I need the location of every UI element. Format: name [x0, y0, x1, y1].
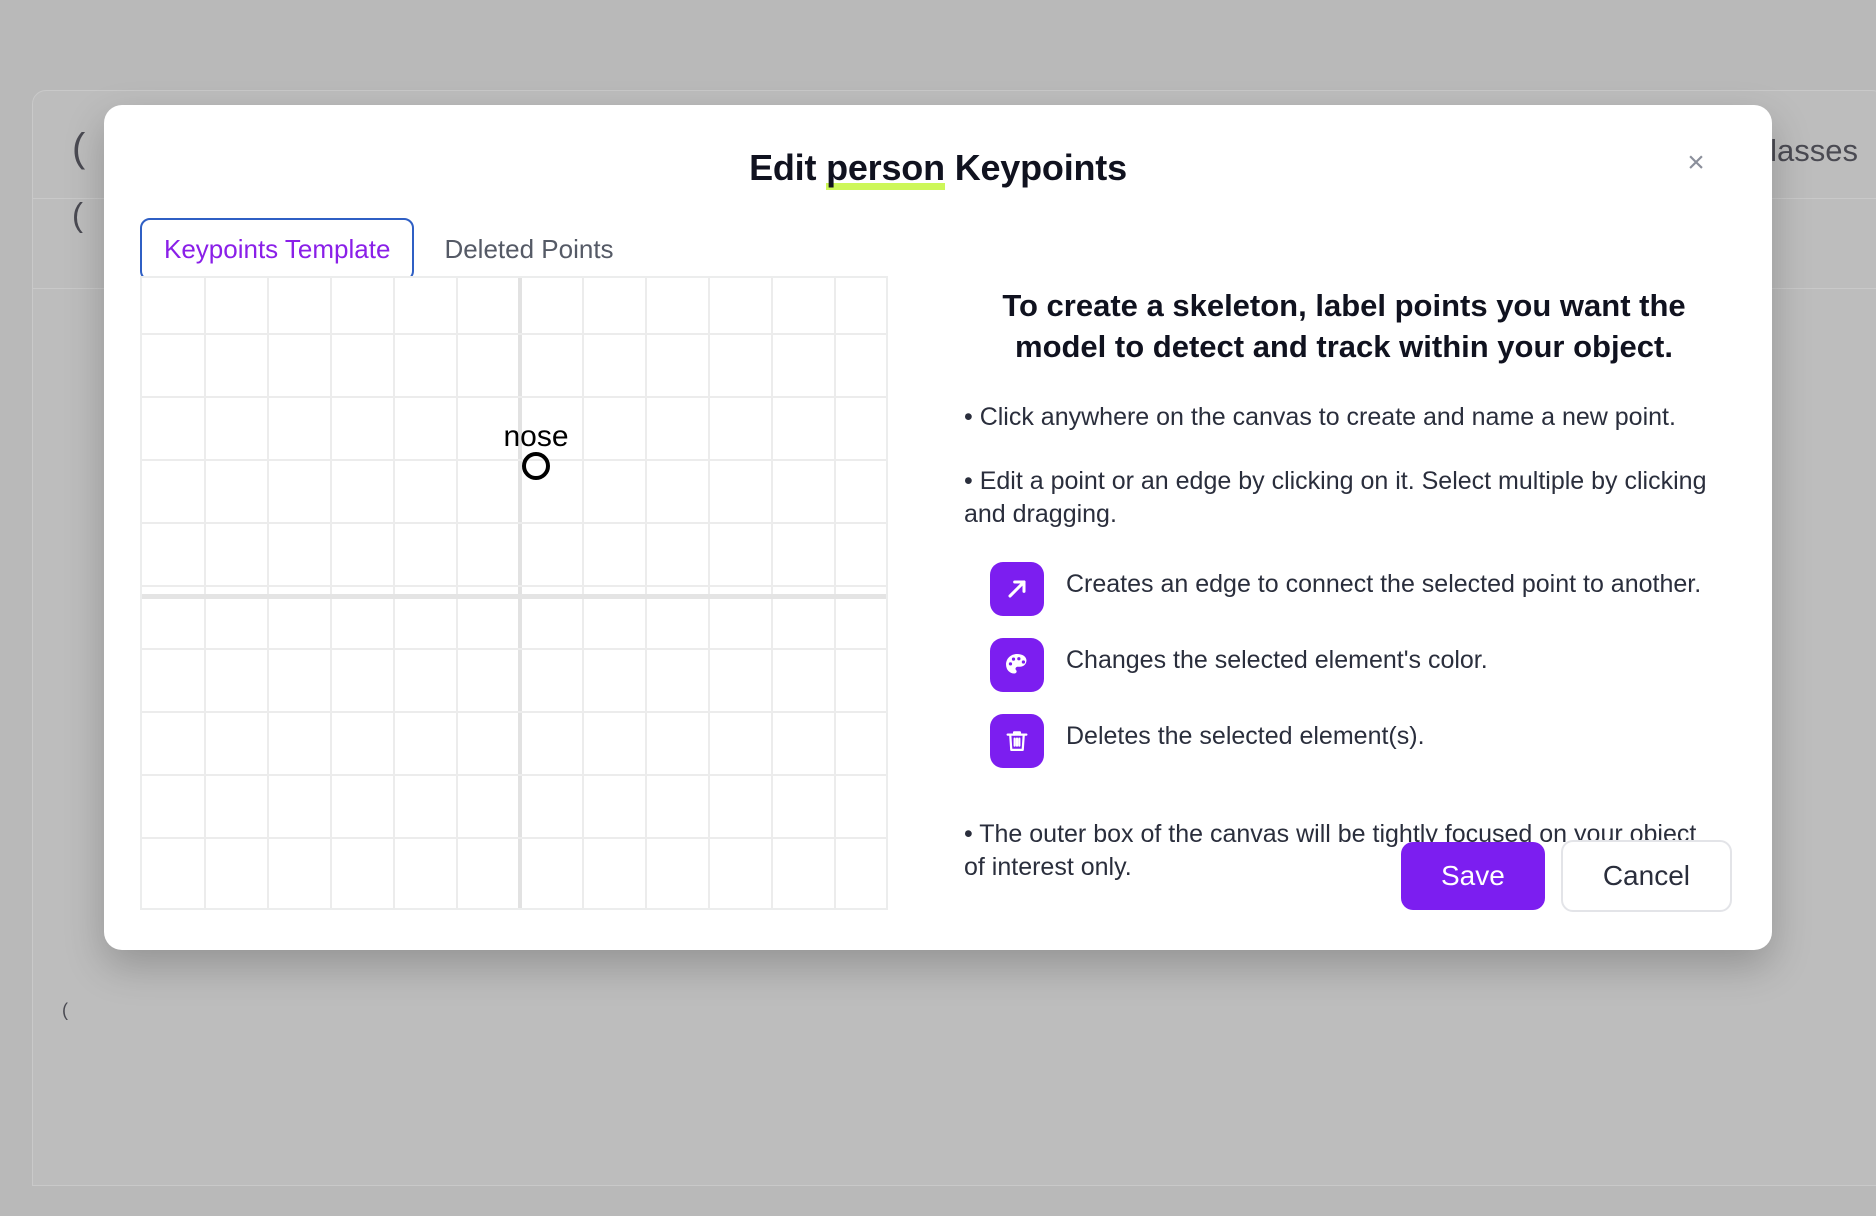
grid-line-horizontal [142, 648, 886, 650]
grid-line-vertical [834, 278, 836, 908]
tool-legend-description: Deletes the selected element(s). [1066, 714, 1425, 753]
grid-line-horizontal [142, 459, 886, 461]
grid-line-vertical-center [518, 278, 522, 908]
keypoint-marker[interactable] [522, 452, 550, 480]
grid-line-vertical [771, 278, 773, 908]
grid-line-horizontal [142, 774, 886, 776]
grid-line-horizontal [142, 837, 886, 839]
grid-line-vertical [393, 278, 395, 908]
save-button[interactable]: Save [1401, 842, 1545, 910]
instructions-panel: To create a skeleton, label points you w… [964, 285, 1724, 885]
grid-line-vertical [708, 278, 710, 908]
grid-line-horizontal [142, 522, 886, 524]
grid-line-horizontal [142, 396, 886, 398]
grid-line-vertical [456, 278, 458, 908]
grid-line-vertical [267, 278, 269, 908]
keypoints-canvas-wrapper: nose [128, 268, 900, 916]
arrow-up-right-icon[interactable] [990, 562, 1044, 616]
tool-legend-row: Creates an edge to connect the selected … [990, 562, 1724, 616]
grid-line-horizontal [142, 333, 886, 335]
keypoint-label: nose [503, 420, 568, 454]
palette-icon[interactable] [990, 638, 1044, 692]
grid-line-horizontal-center [142, 594, 886, 599]
grid-line-vertical [330, 278, 332, 908]
edit-keypoints-modal: Edit person Keypoints × Keypoints Templa… [104, 105, 1772, 950]
grid-line-vertical [582, 278, 584, 908]
modal-title-highlight: person [826, 147, 945, 190]
instruction-bullet-2: • Edit a point or an edge by clicking on… [964, 465, 1724, 532]
background-text-3: ( [62, 1000, 68, 1021]
modal-title-suffix: Keypoints [945, 147, 1127, 188]
tool-legend-description: Creates an edge to connect the selected … [1066, 562, 1701, 601]
grid-line-vertical [204, 278, 206, 908]
tool-legend: Creates an edge to connect the selected … [990, 562, 1724, 768]
tool-legend-row: Changes the selected element's color. [990, 638, 1724, 692]
modal-title: Edit person Keypoints [104, 147, 1772, 189]
background-text-2: ( [72, 196, 83, 234]
instruction-bullet-1: • Click anywhere on the canvas to create… [964, 401, 1724, 435]
tool-legend-row: Deletes the selected element(s). [990, 714, 1724, 768]
tool-legend-description: Changes the selected element's color. [1066, 638, 1488, 677]
modal-title-prefix: Edit [749, 147, 826, 188]
modal-footer: Save Cancel [1401, 840, 1732, 912]
grid-line-horizontal [142, 585, 886, 587]
trash-icon[interactable] [990, 714, 1044, 768]
background-text-1: ( [72, 126, 85, 171]
keypoints-canvas[interactable]: nose [140, 276, 888, 910]
grid-line-horizontal [142, 711, 886, 713]
instructions-heading: To create a skeleton, label points you w… [964, 285, 1724, 367]
close-icon[interactable]: × [1676, 143, 1716, 183]
cancel-button[interactable]: Cancel [1561, 840, 1732, 912]
grid-line-vertical [645, 278, 647, 908]
